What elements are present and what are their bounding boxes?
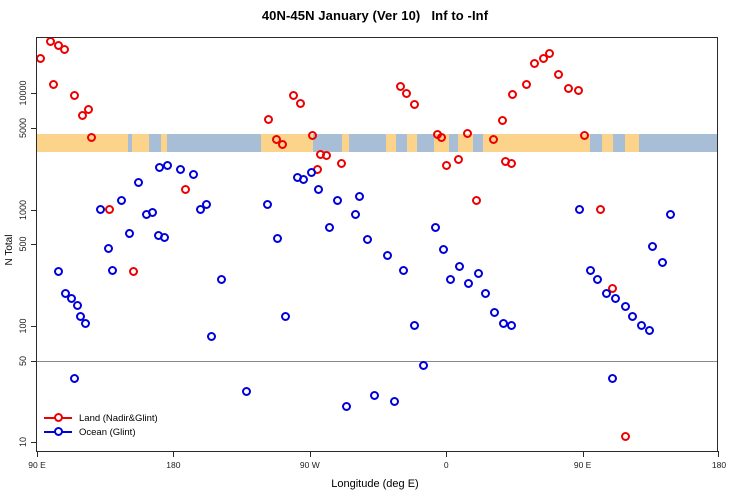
data-point-ocean [666,210,675,219]
mask-segment-ocean [613,134,625,152]
data-point-land [70,91,79,100]
legend-marker-icon [44,412,72,424]
mask-segment-ocean [349,134,385,152]
data-point-ocean [117,196,126,205]
data-point-land [564,84,573,93]
data-point-ocean [399,266,408,275]
data-point-ocean [351,210,360,219]
data-point-ocean [108,266,117,275]
x-tick-label: 90 E [28,460,46,470]
data-point-ocean [148,208,157,217]
data-point-ocean [586,266,595,275]
data-point-ocean [648,242,657,251]
y-tick [31,361,37,362]
data-point-ocean [621,302,630,311]
data-point-land [49,80,58,89]
data-point-ocean [611,294,620,303]
y-tick-label: 50 [19,356,28,366]
data-point-ocean [81,319,90,328]
x-tick-label: 90 W [300,460,320,470]
y-tick [31,326,37,327]
data-point-land [78,111,87,120]
mask-segment-ocean [167,134,261,152]
data-point-ocean [70,374,79,383]
y-tick-label: 10000 [19,81,28,106]
data-point-ocean [207,332,216,341]
y-tick-label: 10 [19,437,28,447]
data-point-ocean [299,175,308,184]
data-point-land [105,205,114,214]
x-tick-label: 180 [166,460,180,470]
data-point-land [472,196,481,205]
mask-segment-ocean [590,134,602,152]
data-point-land [296,99,305,108]
x-tick [718,451,719,457]
y-tick [31,442,37,443]
data-point-ocean [658,258,667,267]
data-point-ocean [390,397,399,406]
data-point-ocean [242,387,251,396]
y-tick-label: 100 [19,318,28,333]
data-point-ocean [273,234,282,243]
data-point-ocean [464,279,473,288]
mask-segment-ocean [473,134,482,152]
legend-item-land[interactable]: Land (Nadir&Glint) [44,411,158,425]
y-tick [31,210,37,211]
data-point-ocean [217,275,226,284]
y-tick [31,244,37,245]
data-point-ocean [73,301,82,310]
y-tick-label: 5000 [19,118,28,138]
data-point-ocean [333,196,342,205]
data-point-land [289,91,298,100]
mask-segment-land [483,134,591,152]
data-point-land [322,151,331,160]
data-point-ocean [96,205,105,214]
data-point-ocean [431,223,440,232]
land-ocean-mask-band [37,134,717,152]
data-point-ocean [163,161,172,170]
mask-segment-land [132,134,149,152]
chart-title: 40N-45N January (Ver 10) Inf to -Inf [0,8,750,23]
data-point-ocean [189,170,198,179]
mask-segment-ocean [449,134,458,152]
data-point-ocean [474,269,483,278]
data-point-ocean [383,251,392,260]
data-point-ocean [490,308,499,317]
legend: Land (Nadir&Glint)Ocean (Glint) [44,411,158,439]
data-point-land [596,205,605,214]
mask-segment-ocean [417,134,434,152]
mask-segment-land [261,134,313,152]
x-tick-label: 180 [712,460,726,470]
data-point-land [621,432,630,441]
y-tick-label: 500 [19,237,28,252]
data-point-ocean [160,233,169,242]
plot-canvas [37,38,717,451]
data-point-ocean [342,402,351,411]
mask-segment-land [37,134,128,152]
data-point-land [410,100,419,109]
mask-segment-land [407,134,418,152]
mask-segment-ocean [313,134,342,152]
x-tick [173,451,174,457]
data-point-ocean [314,185,323,194]
data-point-ocean [575,205,584,214]
mask-segment-land [602,134,613,152]
data-point-land [264,115,273,124]
chart-page: 40N-45N January (Ver 10) Inf to -Inf N T… [0,0,750,500]
mask-segment-ocean [639,134,717,152]
data-point-land [442,161,451,170]
data-point-ocean [602,289,611,298]
data-point-ocean [419,361,428,370]
data-point-ocean [176,165,185,174]
reference-line-50 [37,361,717,362]
data-point-land [463,129,472,138]
data-point-land [60,45,69,54]
data-point-ocean [263,200,272,209]
data-point-ocean [481,289,490,298]
data-point-land [498,116,507,125]
data-point-ocean [439,245,448,254]
y-tick-label: 1000 [19,200,28,220]
data-point-land [554,70,563,79]
data-point-ocean [125,229,134,238]
data-point-land [129,267,138,276]
y-tick [31,93,37,94]
data-point-land [489,135,498,144]
data-point-ocean [455,262,464,271]
data-point-ocean [410,321,419,330]
data-point-ocean [446,275,455,284]
data-point-land [454,155,463,164]
x-tick [37,451,38,457]
y-axis-title: N Total [4,235,15,266]
data-point-ocean [355,192,364,201]
mask-segment-land [625,134,639,152]
data-point-land [337,159,346,168]
data-point-land [181,185,190,194]
mask-segment-land [386,134,397,152]
data-point-ocean [628,312,637,321]
data-point-ocean [281,312,290,321]
mask-segment-ocean [149,134,161,152]
mask-segment-land [342,134,350,152]
data-point-ocean [593,275,602,284]
data-point-ocean [104,244,113,253]
data-point-land [545,49,554,58]
data-point-ocean [54,267,63,276]
data-point-land [530,59,539,68]
legend-label: Land (Nadir&Glint) [79,413,158,424]
data-point-ocean [307,168,316,177]
data-point-ocean [608,374,617,383]
x-tick-label: 0 [444,460,449,470]
data-point-land [507,159,516,168]
y-tick [31,128,37,129]
legend-label: Ocean (Glint) [79,427,136,438]
data-point-land [402,89,411,98]
data-point-ocean [370,391,379,400]
x-tick [310,451,311,457]
data-point-land [87,133,96,142]
data-point-ocean [507,321,516,330]
data-point-land [437,133,446,142]
data-point-ocean [202,200,211,209]
x-tick [446,451,447,457]
data-point-ocean [325,223,334,232]
data-point-land [508,90,517,99]
mask-segment-ocean [396,134,407,152]
legend-item-ocean[interactable]: Ocean (Glint) [44,425,158,439]
plot-area: 10501005001000500010000 90 E18090 W090 E… [36,37,718,452]
data-point-ocean [645,326,654,335]
legend-marker-icon [44,426,72,438]
data-point-land [522,80,531,89]
x-tick [583,451,584,457]
x-tick-label: 90 E [574,460,592,470]
data-point-land [574,86,583,95]
data-point-ocean [134,178,143,187]
x-axis-title: Longitude (deg E) [0,478,750,490]
data-point-land [37,54,45,63]
data-point-ocean [363,235,372,244]
